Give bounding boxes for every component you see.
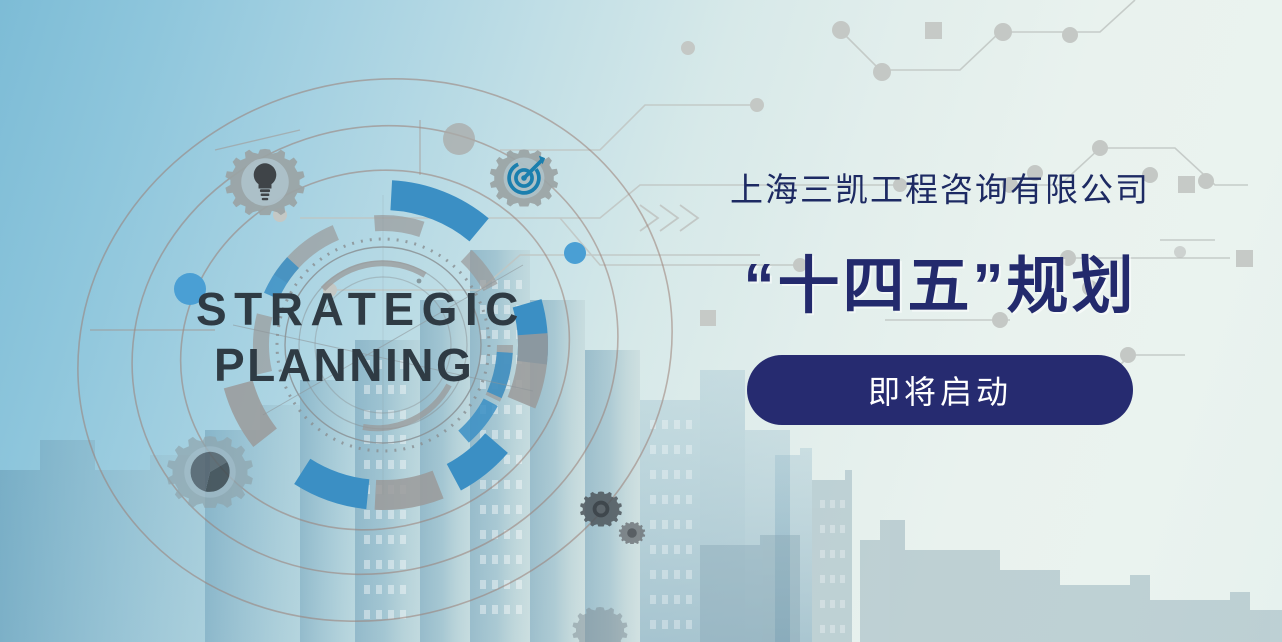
gear-icon-lightbulb	[225, 149, 304, 215]
strategic-planning-banner: STRATEGIC PLANNING	[0, 0, 1282, 642]
gear-icon-partial	[573, 607, 628, 642]
page-title: “十四五”规划	[660, 254, 1220, 319]
banner-copy: 上海三凯工程咨询有限公司 “十四五”规划 即将启动	[660, 170, 1220, 425]
gear-icon-small-b	[619, 522, 645, 544]
pie-chart-icon	[191, 452, 230, 492]
coming-soon-button[interactable]: 即将启动	[747, 355, 1133, 425]
company-name: 上海三凯工程咨询有限公司	[660, 170, 1220, 210]
gear-icon-piechart	[167, 436, 253, 508]
cta-wrapper: 即将启动	[660, 355, 1220, 425]
gear-icon-small-a	[580, 492, 622, 527]
gear-icon-target	[490, 149, 558, 206]
